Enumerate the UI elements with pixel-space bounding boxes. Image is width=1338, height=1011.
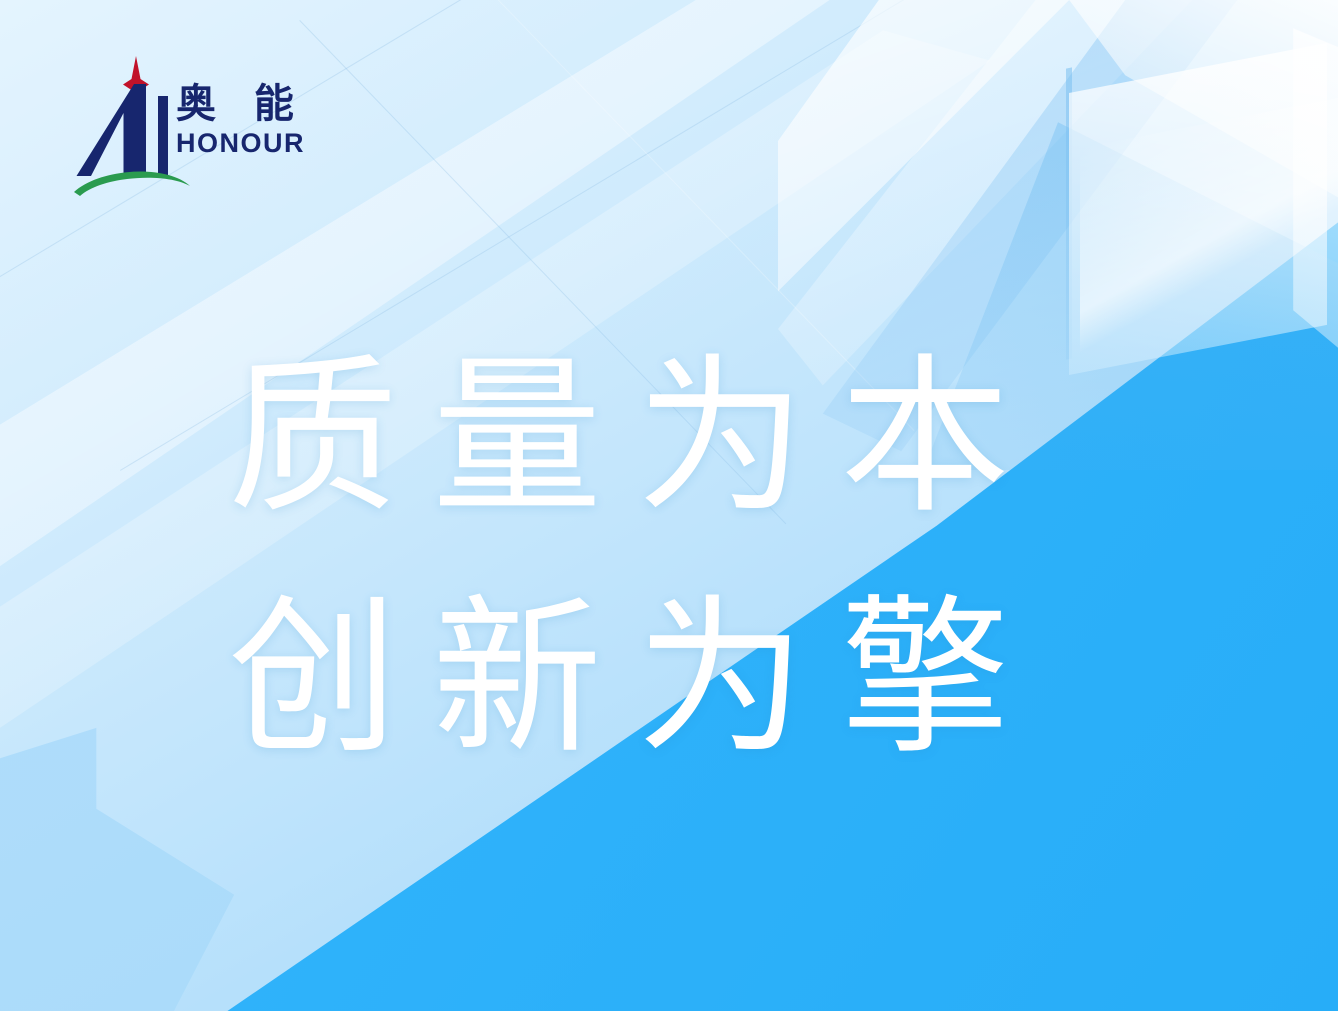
- poster-canvas: 奥 能 HONOUR 质量为本 创新为擎: [0, 0, 1338, 1011]
- logo-company-name-cn: 奥 能: [176, 84, 316, 124]
- logo-wordmark: 奥 能 HONOUR: [176, 84, 316, 157]
- logo-vertical-bar-icon: [158, 96, 168, 176]
- letter-a-monogram-icon: [77, 84, 147, 176]
- slogan-block: 质量为本 创新为擎: [228, 318, 1128, 801]
- slogan-line-1: 质量为本: [228, 318, 1128, 559]
- logo-mark-svg: [74, 56, 190, 196]
- logo-company-name-en: HONOUR: [176, 130, 316, 157]
- slogan-line-2: 创新为擎: [228, 559, 1128, 800]
- company-logo: 奥 能 HONOUR: [74, 56, 314, 196]
